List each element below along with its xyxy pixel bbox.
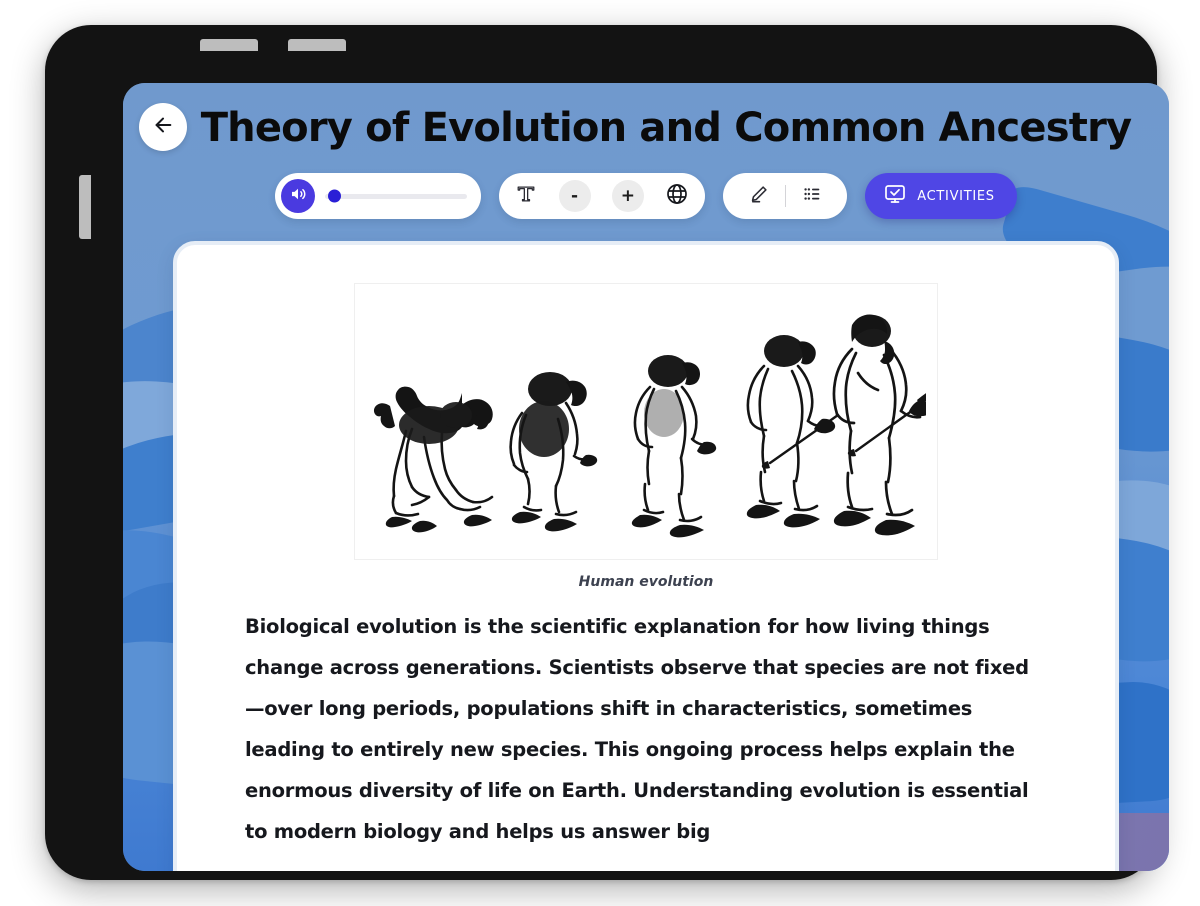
annotation-tools-pill: [723, 173, 847, 219]
figure-caption: Human evolution: [245, 574, 1047, 590]
speaker-volume-icon: [289, 185, 307, 208]
tablet-device-frame: Theory of Evolution and Common Ancestry: [45, 25, 1157, 880]
lesson-content-card: Human evolution Biological evolution is …: [173, 241, 1119, 871]
language-button[interactable]: [665, 182, 689, 211]
audio-progress-slider[interactable]: [325, 194, 467, 199]
globe-language-icon: [665, 182, 689, 211]
activities-button[interactable]: ACTIVITIES: [865, 173, 1016, 219]
audio-slider-thumb[interactable]: [328, 190, 341, 203]
audio-control-pill: [275, 173, 481, 219]
pencil-tool-button[interactable]: [733, 183, 785, 210]
page-title: Theory of Evolution and Common Ancestry: [123, 105, 1169, 151]
play-audio-button[interactable]: [281, 179, 315, 213]
increase-text-size-button[interactable]: +: [612, 180, 644, 212]
lesson-figure: [354, 283, 938, 560]
text-format-icon: [515, 183, 537, 210]
tablet-screen: Theory of Evolution and Common Ancestry: [123, 83, 1169, 871]
decrease-text-size-button[interactable]: -: [559, 180, 591, 212]
text-settings-pill: - +: [499, 173, 705, 219]
bullet-list-icon: [801, 183, 823, 210]
monitor-check-icon: [883, 182, 907, 211]
pencil-edit-icon: [748, 183, 770, 210]
march-of-progress-human-evolution-illustration: [366, 297, 926, 559]
reader-toolbar: - +: [123, 173, 1169, 219]
hardware-volume-down-button[interactable]: [288, 39, 346, 51]
hardware-side-button[interactable]: [79, 175, 91, 239]
activities-label: ACTIVITIES: [917, 189, 994, 204]
lesson-paragraph: Biological evolution is the scientific e…: [245, 606, 1047, 852]
app-header: Theory of Evolution and Common Ancestry: [123, 83, 1169, 243]
text-format-button[interactable]: [515, 183, 537, 210]
hardware-volume-up-button[interactable]: [200, 39, 258, 51]
screenshot-root: Theory of Evolution and Common Ancestry: [0, 0, 1200, 906]
list-view-button[interactable]: [786, 183, 838, 210]
